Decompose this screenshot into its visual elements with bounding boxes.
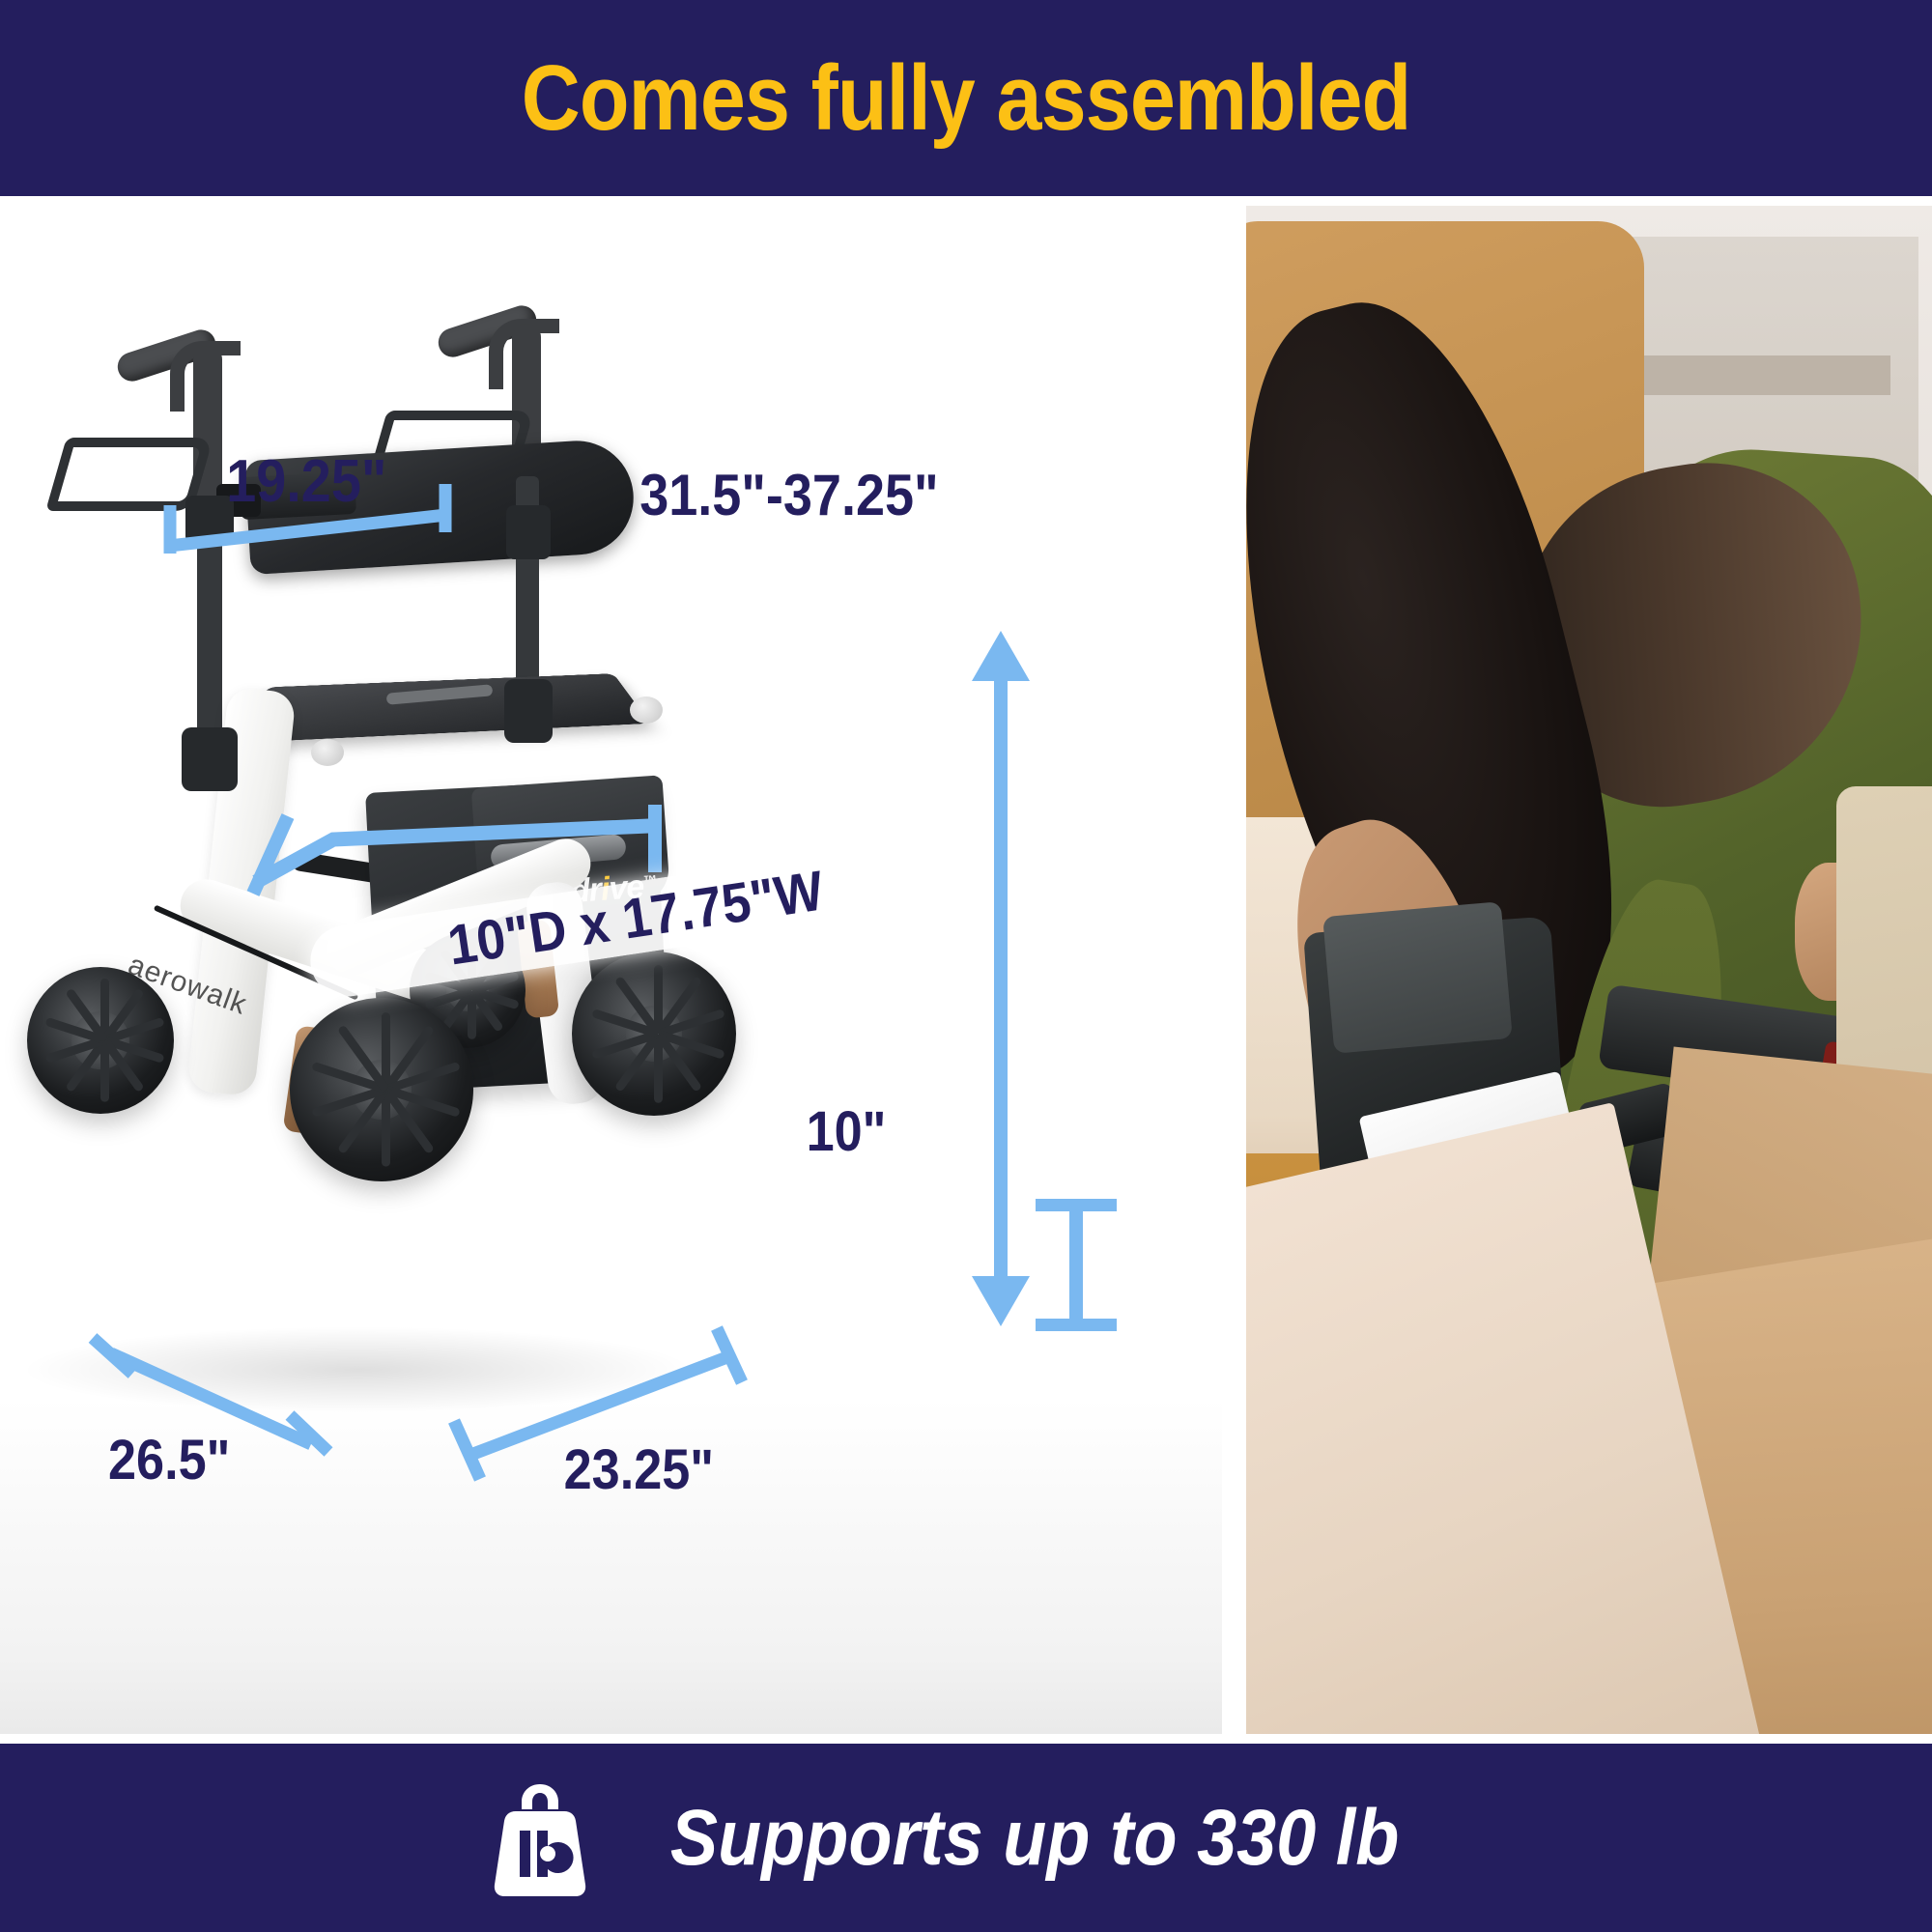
- dim-label-width: 19.25": [226, 447, 386, 516]
- rollator-product-image: drive™ aerowalk: [0, 206, 1222, 1734]
- height-clamp-right: [506, 505, 551, 559]
- lifestyle-photo-panel: [1246, 206, 1932, 1734]
- wheel-rear-left: [27, 967, 174, 1114]
- page-title: Comes fully assembled: [522, 45, 1411, 152]
- product-infographic: Comes fully assembled: [0, 0, 1932, 1932]
- unboxing-photo: [1246, 206, 1932, 1734]
- seat-surface: [239, 673, 650, 743]
- dim-label-depth-right: 23.25": [564, 1437, 714, 1502]
- product-shadow: [19, 1326, 696, 1413]
- wheel-front-right: [572, 952, 736, 1116]
- dim-label-height: 31.5"-37.25": [639, 462, 938, 528]
- dim-label-depth-left: 26.5": [108, 1428, 230, 1492]
- seat-knob-right: [630, 696, 663, 724]
- header-banner: Comes fully assembled: [0, 0, 1932, 196]
- frame-clamp-right: [504, 679, 553, 743]
- weight-lb-icon: [493, 1780, 587, 1896]
- frame-clamp-left: [182, 727, 238, 791]
- dimensions-panel: drive™ aerowalk: [0, 206, 1222, 1734]
- footer-banner: Supports up to 330 lb: [0, 1744, 1932, 1932]
- wheel-front-left: [290, 998, 473, 1181]
- wheel-spoke: [382, 1090, 390, 1167]
- weight-capacity-text: Supports up to 330 lb: [670, 1793, 1399, 1884]
- photo-bag-flap: [1322, 901, 1512, 1054]
- dim-label-seat-height: 10": [807, 1099, 887, 1164]
- seat-knob-left: [311, 739, 344, 766]
